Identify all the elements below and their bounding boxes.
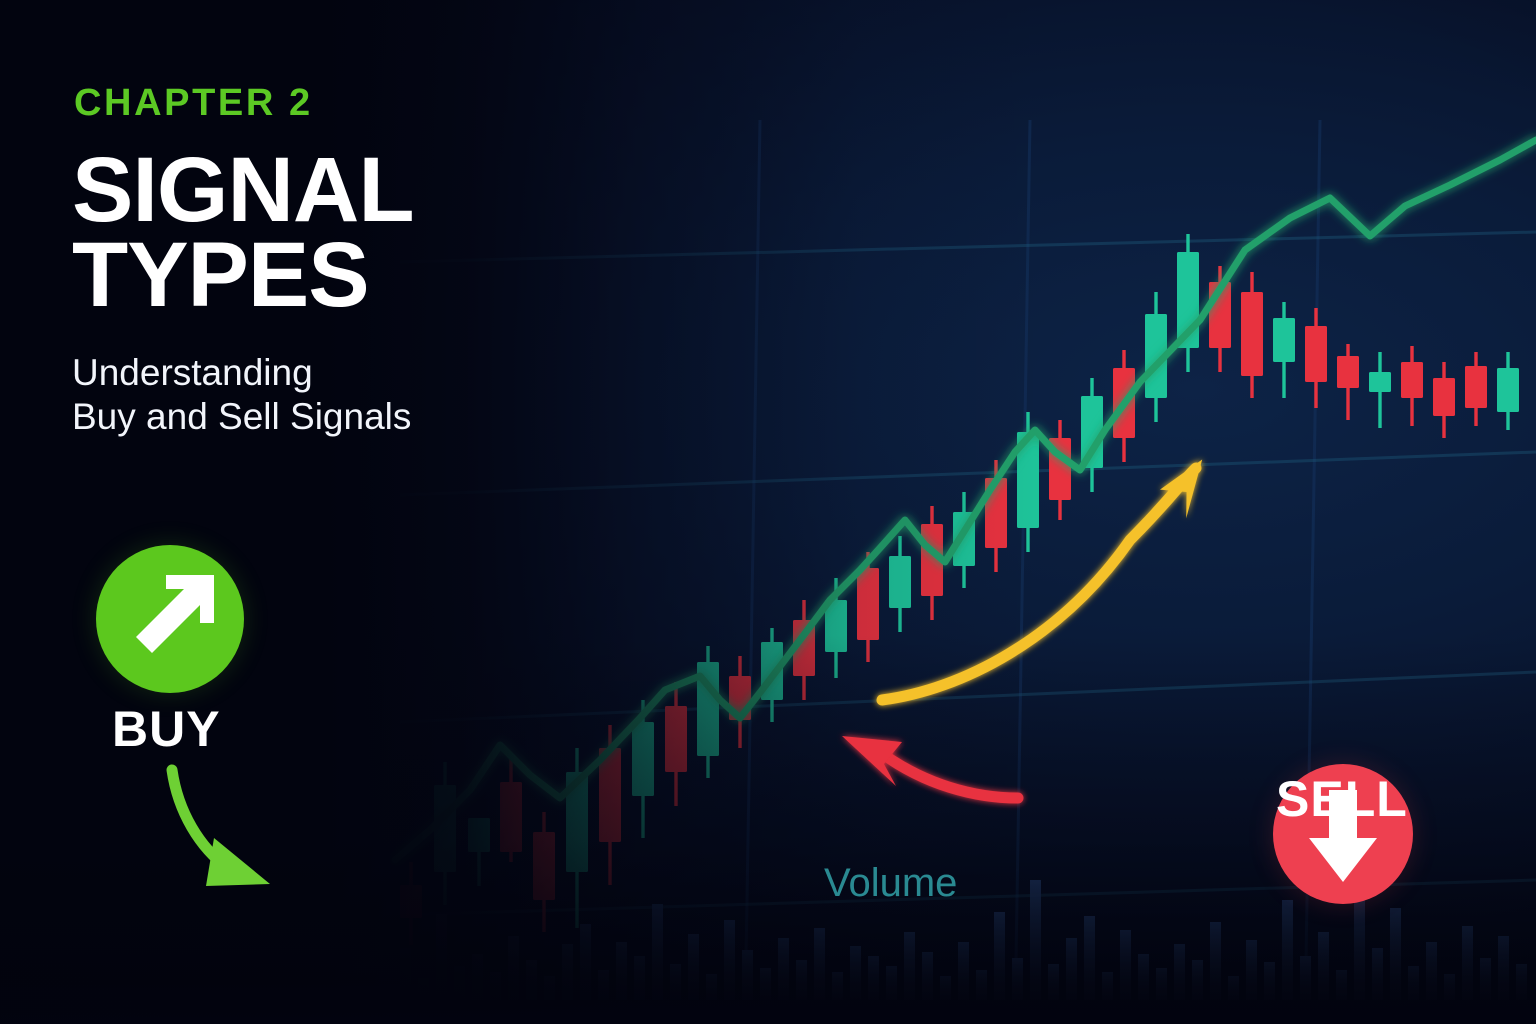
sell-signal-label: SELL: [1276, 770, 1408, 828]
poster-canvas: Volume CHAPTER 2 SIGNAL TYPES Understand…: [0, 0, 1536, 1024]
buy-pointer-arrow: [172, 770, 270, 886]
